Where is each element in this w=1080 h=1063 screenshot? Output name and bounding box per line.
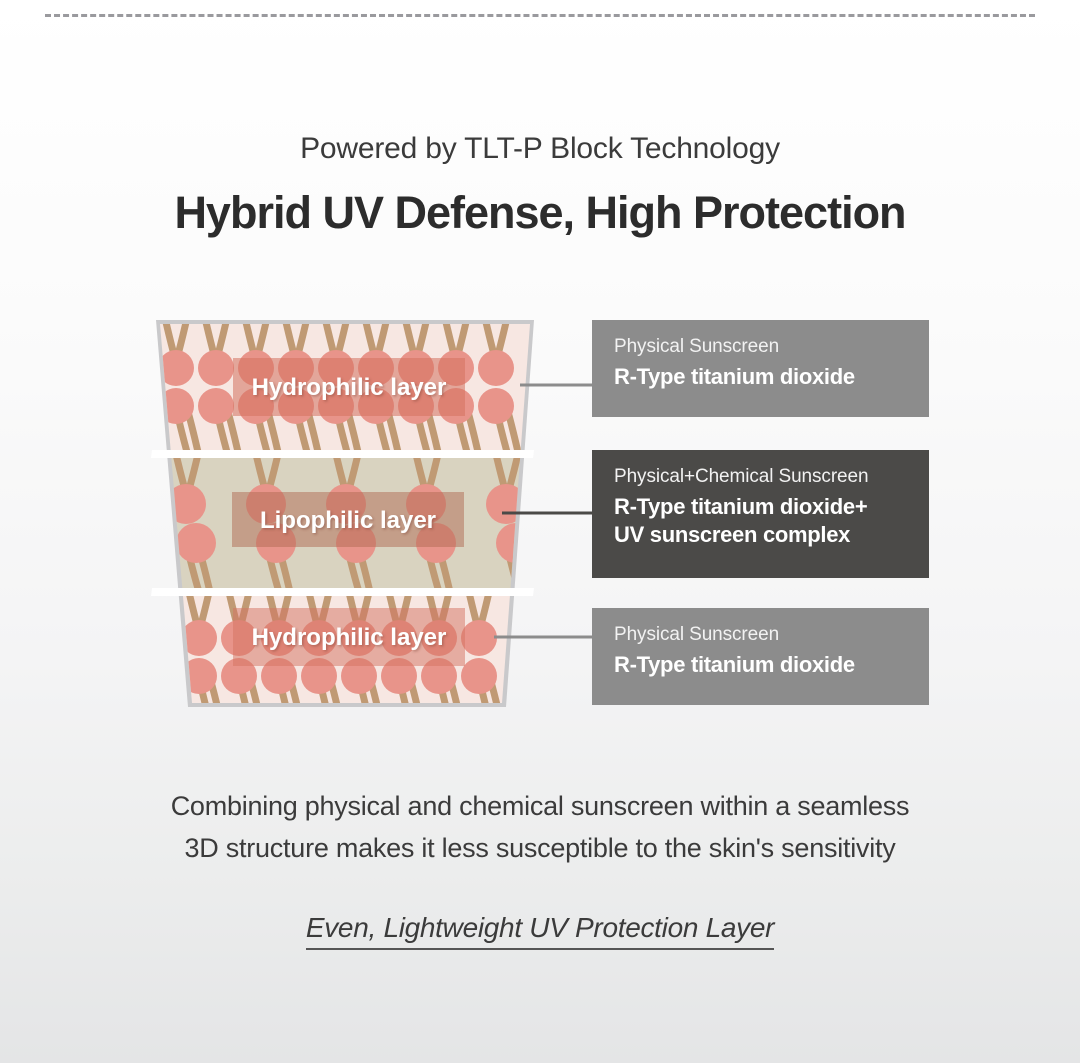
layer-hydrophilic-bottom: Hydrophilic layer [150,588,540,722]
header-block: Powered by TLT-P Block Technology Hybrid… [0,131,1080,239]
eyebrow-text: Powered by TLT-P Block Technology [0,131,1080,167]
top-dashed-divider [45,14,1035,17]
callout-kicker: Physical Sunscreen [614,622,929,648]
callout-kicker: Physical Sunscreen [614,334,929,360]
callout-physical-bottom: Physical Sunscreen R-Type titanium dioxi… [592,608,929,705]
layer-label-hydrophilic-bottom: Hydrophilic layer [252,624,447,651]
description-line-1: Combining physical and chemical sunscree… [0,785,1080,827]
layer-label-hydrophilic-top: Hydrophilic layer [252,374,447,401]
tagline-block: Even, Lightweight UV Protection Layer [0,912,1080,944]
tagline-text: Even, Lightweight UV Protection Layer [306,912,774,950]
callout-main: R-Type titanium dioxide [614,651,929,679]
page-title: Hybrid UV Defense, High Protection [0,187,1080,239]
layer-hydrophilic-top: Hydrophilic layer [150,318,540,452]
callout-physical-chemical-middle: Physical+Chemical Sunscreen R-Type titan… [592,450,929,578]
layer-lipophilic-middle: Lipophilic layer [150,450,540,592]
callout-kicker: Physical+Chemical Sunscreen [614,464,929,490]
layer-label-lipophilic: Lipophilic layer [260,507,436,534]
callout-physical-top: Physical Sunscreen R-Type titanium dioxi… [592,320,929,417]
callout-main: R-Type titanium dioxide [614,363,929,391]
callout-main: R-Type titanium dioxide+ UV sunscreen co… [614,493,929,549]
description-block: Combining physical and chemical sunscree… [0,785,1080,869]
description-line-2: 3D structure makes it less susceptible t… [0,827,1080,869]
